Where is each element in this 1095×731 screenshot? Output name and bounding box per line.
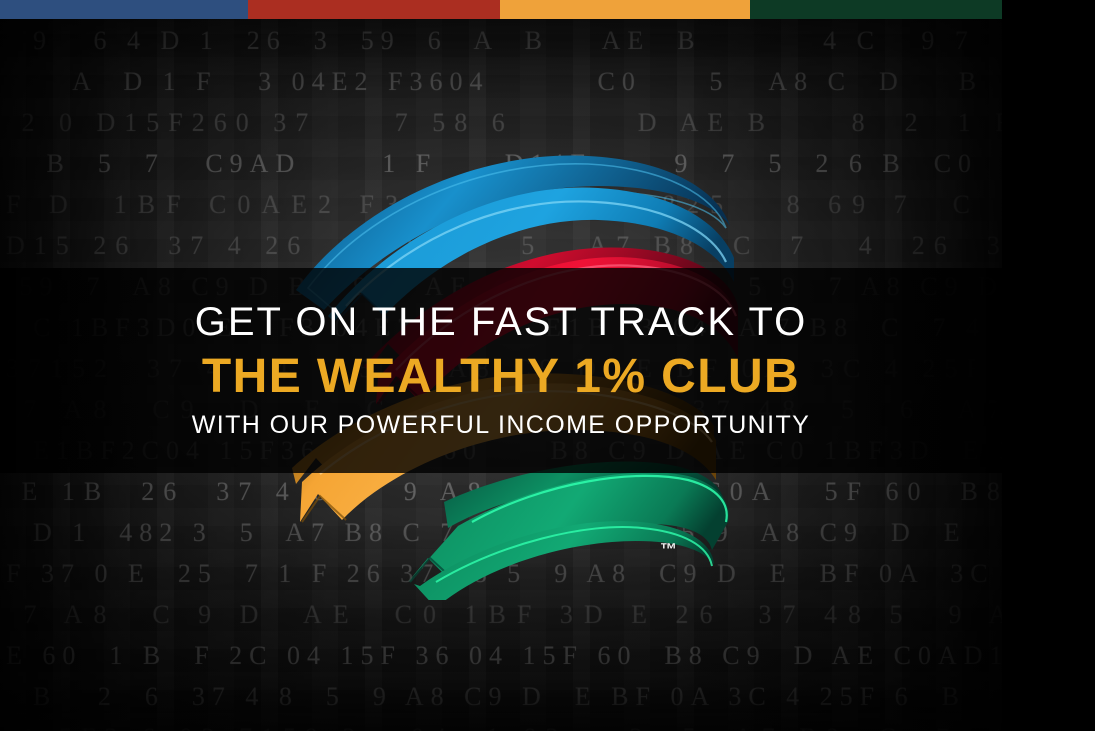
hex-code-row: B 2 6 37 4 8 5 9 A8 C9 D E BF 0A 3C 4 25…	[6, 676, 1002, 717]
red-segment	[248, 0, 500, 19]
headline-copy-group: GET ON THE FAST TRACK TO THE WEALTHY 1% …	[0, 268, 1002, 473]
hex-code-row: A D 1 F 3 04E2 F3604 C0 5 A8 C D B	[6, 61, 1002, 102]
hex-code-row: 7 A8 C 9 D AE C0 1BF 3D E 26 37 48 5 9 A…	[6, 594, 1002, 635]
blue-segment	[0, 0, 248, 19]
trademark-symbol: ™	[660, 540, 677, 560]
hex-code-row: E 60 1 B F 2C 04 15F 36 04 15F 60 B8 C9 …	[6, 635, 1002, 676]
hex-code-row: 1 5F2 6 03 7159 2 04 1 82 3 5 A7 B8 C 7 …	[6, 717, 1002, 731]
headline-line-3: WITH OUR POWERFUL INCOME OPPORTUNITY	[192, 412, 810, 440]
top-color-bar	[0, 0, 1002, 19]
hex-code-row: 9 6 4 D 1 26 3 59 6 A B AE B 4 C 9 7	[6, 20, 1002, 61]
right-gutter	[1002, 0, 1095, 731]
orange-segment	[500, 0, 750, 19]
green-segment	[750, 0, 1002, 19]
headline-line-2: THE WEALTHY 1% CLUB	[202, 351, 800, 403]
promo-banner-root: 9 6 4 D 1 26 3 59 6 A B AE B 4 C 9 7 A D…	[0, 0, 1095, 731]
headline-line-1: GET ON THE FAST TRACK TO	[195, 301, 808, 344]
